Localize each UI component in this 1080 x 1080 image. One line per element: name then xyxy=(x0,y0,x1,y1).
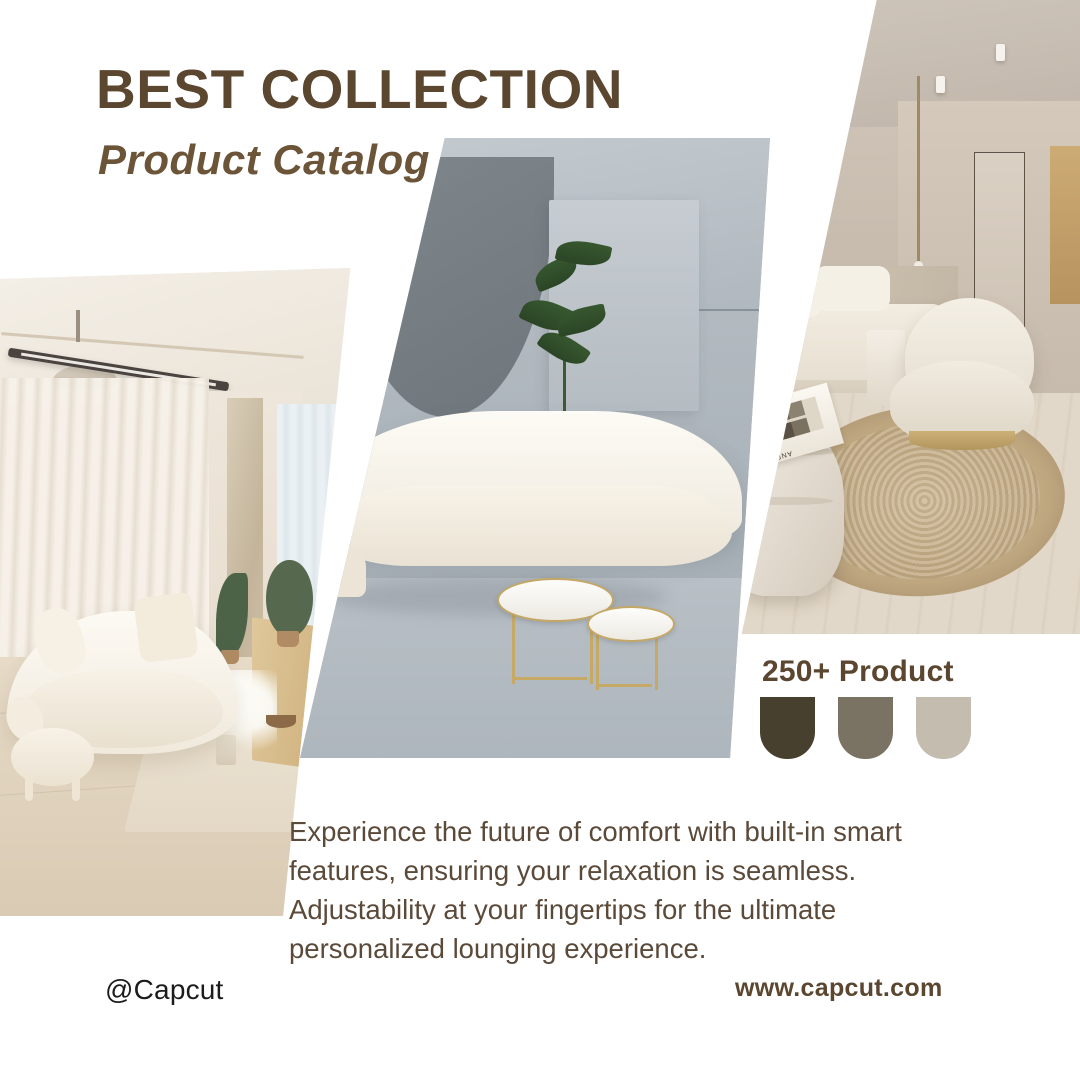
page-title: BEST COLLECTION xyxy=(96,62,623,117)
ceiling-spotlight-a xyxy=(936,76,945,93)
ceiling-spotlight-b xyxy=(996,44,1005,61)
studio-scene xyxy=(300,138,770,758)
swatch-taupe[interactable] xyxy=(838,697,893,759)
dark-cup xyxy=(299,767,314,781)
body-copy: Experience the future of comfort with bu… xyxy=(289,812,969,968)
round-stool xyxy=(11,728,94,786)
color-swatch-group xyxy=(760,697,971,759)
book-cover-image xyxy=(762,397,824,444)
pendant-rod xyxy=(917,76,920,266)
swatch-dark-brown[interactable] xyxy=(760,697,815,759)
cushion-right xyxy=(133,592,198,663)
poster-canvas: BEST COLLECTION Product Catalog xyxy=(0,0,1080,1080)
glass-vase xyxy=(216,735,236,765)
table-a-stretcher xyxy=(512,677,587,680)
swatch-light-beige[interactable] xyxy=(916,697,971,759)
website-url[interactable]: www.capcut.com xyxy=(735,974,942,1003)
table-b-stretcher xyxy=(596,684,652,687)
stool-leg-b xyxy=(72,773,80,801)
studio-sofa-photo xyxy=(300,138,770,758)
pendant-cord xyxy=(76,310,80,342)
sofa-foot xyxy=(319,547,366,597)
plant-pot-b xyxy=(277,631,299,647)
page-subtitle: Product Catalog xyxy=(98,139,430,181)
sofa-seat xyxy=(328,485,732,566)
pillow-b xyxy=(814,266,890,310)
product-count-label: 250+ Product xyxy=(762,655,954,689)
social-handle: @Capcut xyxy=(105,974,224,1006)
olive-plant xyxy=(266,560,313,638)
stool-leg-a xyxy=(25,773,33,801)
wall-art xyxy=(1050,146,1080,305)
bird-of-paradise-plant xyxy=(507,237,620,423)
